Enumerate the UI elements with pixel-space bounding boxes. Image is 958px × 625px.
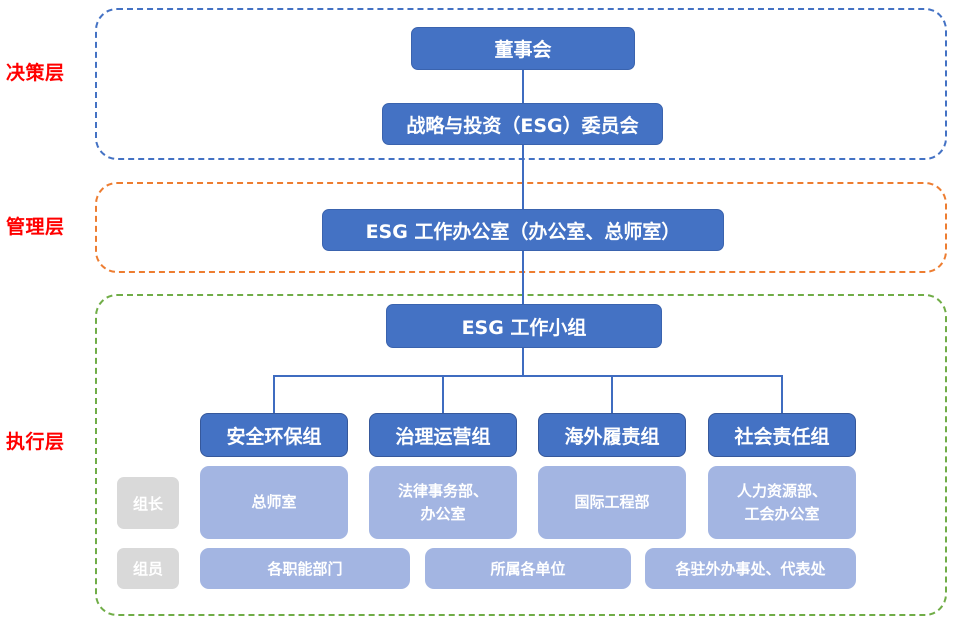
connector-bus-to-group-0 xyxy=(273,375,275,414)
connector-bus-to-group-2 xyxy=(611,375,613,414)
member-cell-functional-departments[interactable]: 各职能部门 xyxy=(200,548,410,589)
member-cell-overseas-offices[interactable]: 各驻外办事处、代表处 xyxy=(645,548,856,589)
member-cell-affiliated-units[interactable]: 所属各单位 xyxy=(425,548,631,589)
layer-label-execution: 执行层 xyxy=(6,427,65,454)
leader-cell-social-responsibility[interactable]: 人力资源部、工会办公室 xyxy=(708,466,856,539)
connector-office-to-team xyxy=(522,250,524,305)
group-head-social-responsibility[interactable]: 社会责任组 xyxy=(708,413,856,457)
layer-label-decision: 决策层 xyxy=(6,58,65,85)
leader-cell-overseas-responsibility[interactable]: 国际工程部 xyxy=(538,466,686,539)
row-label-leader: 组长 xyxy=(117,477,179,529)
node-board-of-directors[interactable]: 董事会 xyxy=(411,27,635,70)
layer-label-management: 管理层 xyxy=(6,212,65,239)
connector-bus-to-group-3 xyxy=(781,375,783,414)
row-label-member: 组员 xyxy=(117,548,179,589)
group-head-overseas-responsibility[interactable]: 海外履责组 xyxy=(538,413,686,457)
node-esg-working-team[interactable]: ESG 工作小组 xyxy=(386,304,662,348)
leader-cell-safety-environment[interactable]: 总师室 xyxy=(200,466,348,539)
group-head-safety-environment[interactable]: 安全环保组 xyxy=(200,413,348,457)
node-esg-committee[interactable]: 战略与投资（ESG）委员会 xyxy=(382,103,663,145)
connector-group-bus xyxy=(273,375,783,377)
connector-team-to-bus xyxy=(522,347,524,376)
connector-committee-to-office xyxy=(522,144,524,210)
connector-board-to-committee xyxy=(522,69,524,104)
org-chart-canvas: 决策层 管理层 执行层 董事会 战略与投资（ESG）委员会 ESG 工作办公室（… xyxy=(0,0,958,625)
group-head-governance-operations[interactable]: 治理运营组 xyxy=(369,413,517,457)
node-esg-working-office[interactable]: ESG 工作办公室（办公室、总师室） xyxy=(322,209,724,251)
connector-bus-to-group-1 xyxy=(442,375,444,414)
leader-cell-governance-operations[interactable]: 法律事务部、办公室 xyxy=(369,466,517,539)
